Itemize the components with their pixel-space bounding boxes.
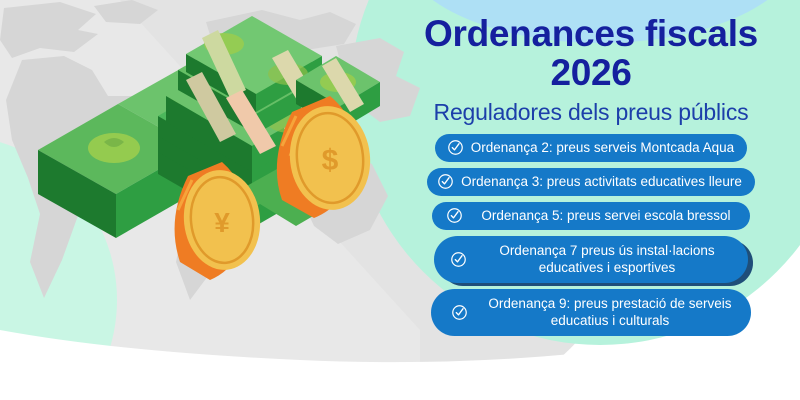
title-line-1: Ordenances fiscals	[424, 13, 758, 54]
ordinance-item-label: Ordenança 3: preus activitats educatives…	[461, 173, 742, 190]
content-column: Ordenances fiscals 2026 Reguladores dels…	[382, 0, 800, 400]
check-circle-icon	[446, 207, 463, 224]
ordinance-item-2[interactable]: Ordenança 3: preus activitats educatives…	[427, 168, 755, 196]
ordinance-item-5[interactable]: Ordenança 9: preus prestació de serveis …	[431, 289, 751, 336]
ordinance-item-wrap: Ordenança 5: preus servei escola bressol	[432, 202, 749, 230]
ordinance-list: Ordenança 2: preus serveis Montcada Aqua…	[382, 134, 800, 342]
check-circle-icon	[447, 139, 464, 156]
check-circle-icon	[437, 173, 454, 190]
poster-canvas: $ ¥	[0, 0, 800, 400]
ordinance-item-label: Ordenança 9: preus prestació de serveis …	[485, 295, 735, 329]
page-subtitle: Reguladores dels preus públics	[434, 99, 749, 125]
ordinance-item-wrap: Ordenança 3: preus activitats educatives…	[427, 168, 755, 196]
ordinance-item-label: Ordenança 5: preus servei escola bressol	[481, 207, 730, 224]
svg-text:¥: ¥	[214, 207, 230, 238]
page-title: Ordenances fiscals 2026	[391, 14, 791, 92]
ordinance-item-4[interactable]: Ordenança 7 preus ús instal·lacions educ…	[434, 236, 748, 283]
ordinance-item-1[interactable]: Ordenança 2: preus serveis Montcada Aqua	[435, 134, 747, 162]
ordinance-item-wrap: Ordenança 2: preus serveis Montcada Aqua	[435, 134, 747, 162]
svg-text:$: $	[322, 144, 339, 177]
check-circle-icon	[451, 304, 468, 321]
check-circle-icon	[450, 251, 467, 268]
ordinance-item-wrap: Ordenança 9: preus prestació de serveis …	[431, 289, 751, 336]
ordinance-item-3[interactable]: Ordenança 5: preus servei escola bressol	[432, 202, 749, 230]
title-line-2: 2026	[550, 52, 631, 93]
ordinance-item-label: Ordenança 7 preus ús instal·lacions educ…	[482, 242, 732, 276]
ordinance-item-wrap: Ordenança 7 preus ús instal·lacions educ…	[434, 236, 748, 283]
ordinance-item-label: Ordenança 2: preus serveis Montcada Aqua	[471, 139, 734, 156]
